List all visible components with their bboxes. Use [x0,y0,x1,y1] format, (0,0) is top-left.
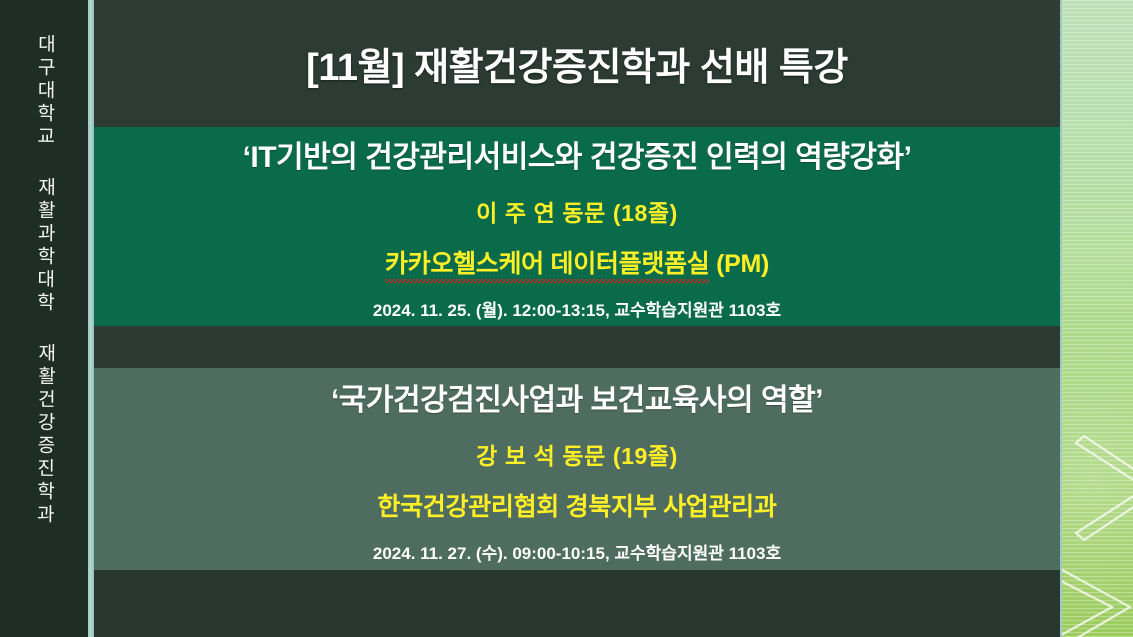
bottom-band [94,570,1060,637]
lecture-1-affiliation: 카카오헬스케어 데이터플랫폼실 (PM) [385,244,769,280]
lecture-2-datetime-location: 2024. 11. 27. (수). 09:00-10:15, 교수학습지원관 … [373,539,781,564]
decorative-background-panel [1062,0,1133,637]
lecture-2-affiliation: 한국건강관리협회 경북지부 사업관리과 [377,487,776,523]
lecture-card-2: ‘국가건강검진사업과 보건교육사의 역할’ 강 보 석 동문 (19졸) 한국건… [94,368,1060,570]
title-band: [11월] 재활건강증진학과 선배 특강 [94,0,1060,127]
lecture-card-1: ‘IT기반의 건강관리서비스와 건강증진 인력의 역량강화’ 이 주 연 동문 … [94,127,1060,326]
lecture-1-datetime-location: 2024. 11. 25. (월). 12:00-13:15, 교수학습지원관 … [373,296,781,321]
lecture-1-title: ‘IT기반의 건강관리서비스와 건강증진 인력의 역량강화’ [243,132,912,176]
main-stage: [11월] 재활건강증진학과 선배 특강 ‘IT기반의 건강관리서비스와 건강증… [94,0,1060,637]
lecture-2-affiliation-flagged: 한국건강관리협회 경북지부 사업관리과 [377,493,776,521]
sidebar-text-college: 재활과학대학 [34,177,54,315]
sidebar-text-university: 대구대학교 [34,34,54,149]
lecture-1-affiliation-suffix: (PM) [709,250,769,278]
vertical-identity-sidebar: 대구대학교 재활과학대학 재활건강증진학과 [0,0,88,637]
lecture-1-affiliation-flagged: 카카오헬스케어 데이터플랫폼실 [385,244,709,280]
chevron-right-icon [1058,430,1133,550]
sidebar-text-department: 재활건강증진학과 [34,343,55,527]
page-title: [11월] 재활건강증진학과 선배 특강 [306,36,848,91]
band-divider [94,326,1060,368]
lecture-2-speaker: 강 보 석 동문 (19졸) [476,437,678,471]
slide-canvas: 대구대학교 재활과학대학 재활건강증진학과 [11월] 재활건강증진학과 선배 … [0,0,1133,637]
scanline-texture [1062,0,1133,637]
lecture-1-speaker: 이 주 연 동문 (18졸) [476,194,678,228]
lecture-2-title: ‘국가건강검진사업과 보건교육사의 역할’ [331,375,823,419]
